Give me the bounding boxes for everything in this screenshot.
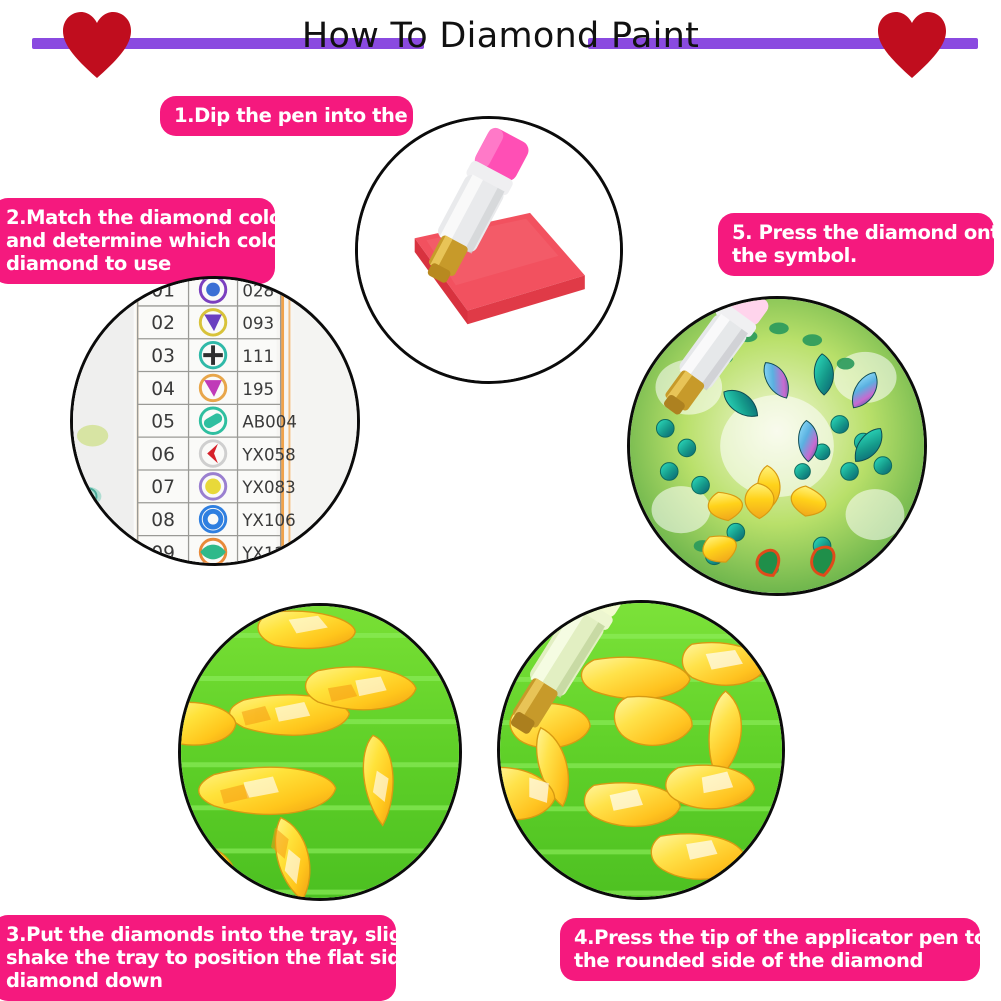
- svg-text:04: 04: [151, 379, 175, 400]
- svg-text:AB004: AB004: [242, 413, 297, 432]
- step-2-line-2: and determine which color: [6, 229, 261, 252]
- step-5-line-2: the symbol.: [732, 244, 980, 267]
- step-1-label: 1.Dip the pen into the gel: [160, 96, 413, 136]
- svg-text:07: 07: [151, 477, 175, 498]
- photo-color-symbol-chart: 0102802093031110419505AB00406YX05807YX08…: [70, 276, 360, 566]
- step-3-line-1: 3.Put the diamonds into the tray, slight…: [6, 923, 382, 946]
- svg-text:195: 195: [242, 380, 274, 399]
- step-4-line-2: the rounded side of the diamond: [574, 949, 966, 972]
- infographic-canvas: How To Diamond Paint 1.Dip the pen into …: [0, 0, 1001, 1001]
- header: How To Diamond Paint: [0, 0, 1001, 88]
- svg-text:028: 028: [242, 281, 274, 300]
- svg-text:06: 06: [151, 444, 175, 465]
- svg-text:08: 08: [151, 510, 175, 531]
- photo-pen-dipping-into-gel: [355, 116, 623, 384]
- step-3-line-3: diamond down: [6, 969, 382, 992]
- svg-text:111: 111: [242, 347, 274, 366]
- svg-text:093: 093: [242, 314, 274, 333]
- photo-placing-diamond-on-canvas: [627, 296, 927, 596]
- svg-text:YX058: YX058: [241, 445, 295, 464]
- svg-text:03: 03: [151, 346, 175, 367]
- svg-text:YX083: YX083: [241, 478, 295, 497]
- svg-text:YX106: YX106: [241, 511, 295, 530]
- step-5-label: 5. Press the diamond onto the symbol.: [718, 213, 994, 276]
- photo-pen-picking-diamond: [497, 600, 785, 900]
- step-3-label: 3.Put the diamonds into the tray, slight…: [0, 915, 396, 1001]
- photo-diamonds-in-tray: [178, 603, 462, 901]
- step-4-label: 4.Press the tip of the applicator pen to…: [560, 918, 980, 981]
- step-2-line-3: diamond to use: [6, 252, 261, 275]
- svg-text:02: 02: [151, 313, 175, 334]
- svg-text:YX125: YX125: [241, 544, 295, 563]
- chart-row: 03111: [151, 342, 274, 367]
- step-2-line-1: 2.Match the diamond color: [6, 206, 261, 229]
- step-3-line-2: shake the tray to position the flat side…: [6, 946, 382, 969]
- step-1-line-1: 1.Dip the pen into the gel: [174, 104, 399, 127]
- step-5-line-1: 5. Press the diamond onto: [732, 221, 980, 244]
- svg-text:05: 05: [151, 412, 175, 433]
- step-2-label: 2.Match the diamond color and determine …: [0, 198, 275, 284]
- step-4-line-1: 4.Press the tip of the applicator pen to: [574, 926, 966, 949]
- svg-text:09: 09: [151, 543, 175, 563]
- page-title: How To Diamond Paint: [0, 16, 1001, 56]
